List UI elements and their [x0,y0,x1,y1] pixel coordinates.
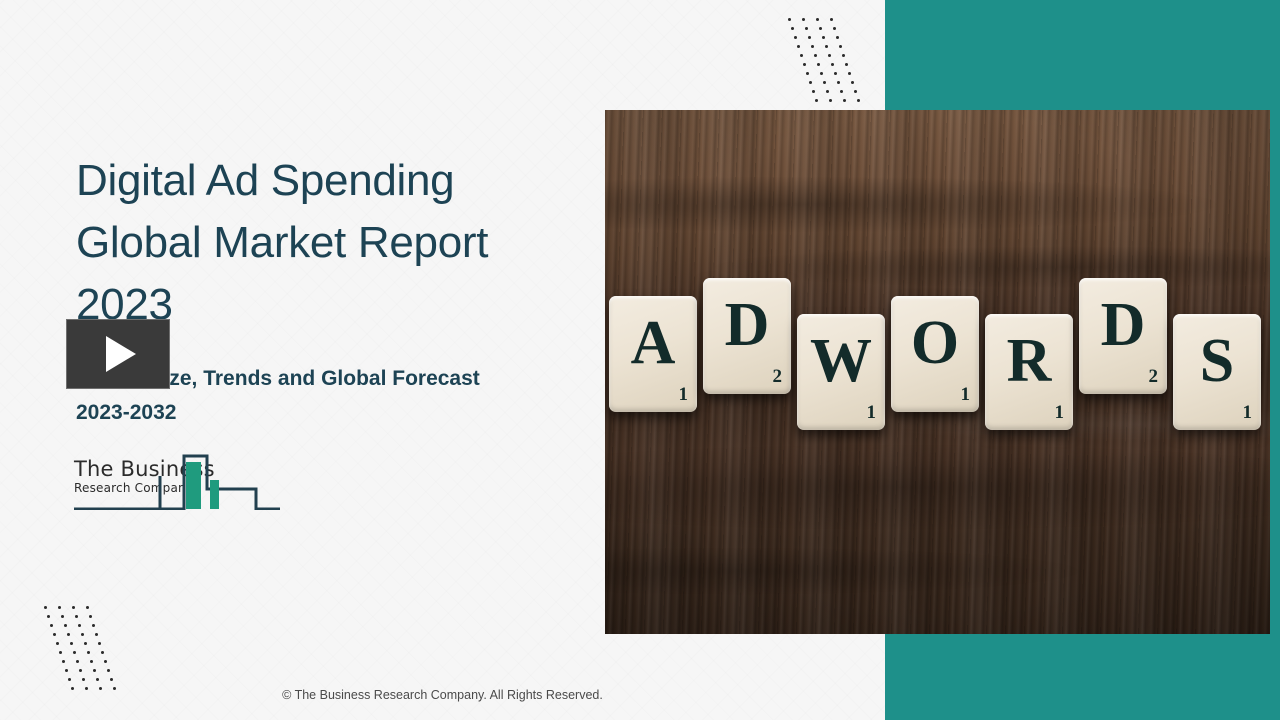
page-title: Digital Ad Spending Global Market Report… [76,150,556,336]
dot-pattern-top-right [788,18,848,108]
company-logo: The Business Research Company [74,448,280,510]
play-button[interactable] [66,319,170,389]
slide-canvas: A1D2W1O1R1D2S1 Digital Ad Spending Globa… [0,0,1280,720]
play-icon [106,336,136,372]
logo-bar-chart-icon [74,448,280,510]
dot-pattern-bottom-left [44,606,110,698]
footer-copyright: © The Business Research Company. All Rig… [0,688,885,702]
hero-photo: A1D2W1O1R1D2S1 [605,110,1270,634]
headline-block: Digital Ad Spending Global Market Report… [76,150,556,336]
photo-vignette [605,110,1270,634]
